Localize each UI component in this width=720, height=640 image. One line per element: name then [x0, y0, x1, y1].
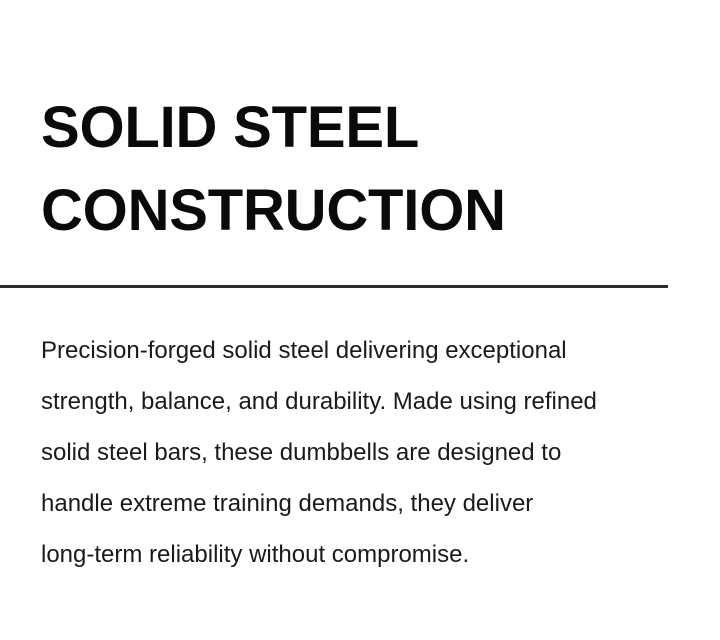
body-description: Precision-forged solid steel delivering …	[41, 325, 693, 580]
feature-content-block: SOLID STEEL CONSTRUCTION Precision-forge…	[0, 0, 720, 640]
section-divider	[0, 285, 668, 288]
page-title: SOLID STEEL CONSTRUCTION	[41, 86, 681, 252]
